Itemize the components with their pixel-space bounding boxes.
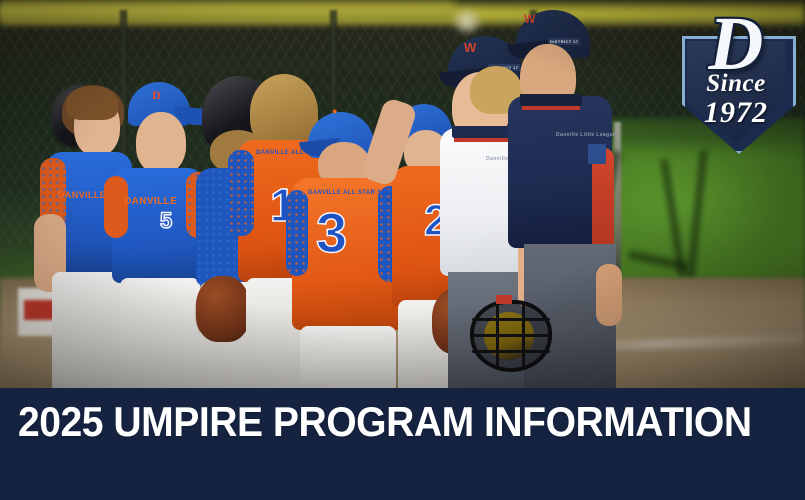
mask-bar <box>472 334 550 337</box>
head <box>136 112 186 174</box>
collar-red-stripe <box>522 106 580 110</box>
arm <box>596 264 622 326</box>
shirt-embroidery: Danville Little League <box>556 132 616 138</box>
hair-front <box>66 86 118 120</box>
mask-bar <box>472 350 550 353</box>
cap-logo: W <box>524 12 536 26</box>
mask-bar <box>496 304 499 368</box>
mask-bar <box>472 318 550 321</box>
banner-title-text: 2025 UMPIRE PROGRAM INFORMATION <box>18 398 752 446</box>
sleeve <box>228 150 254 236</box>
pants <box>120 278 200 392</box>
mask-brand-tag <box>496 295 512 304</box>
page-root: DANVILLE D DANVILLE 5 <box>0 0 805 500</box>
field-light-glow <box>452 8 482 34</box>
district-logo[interactable]: D Since 1972 <box>668 8 804 150</box>
baseball-glove <box>196 276 250 342</box>
cap-logo: W <box>464 40 477 55</box>
cap-logo: ● <box>332 106 338 116</box>
cap-logo: D <box>152 88 161 103</box>
pants <box>300 326 396 392</box>
sleeve-patch <box>588 144 606 164</box>
sleeve <box>286 190 308 276</box>
jersey-team-name: DANVILLE <box>124 196 177 207</box>
logo-year: 1972 <box>668 96 804 130</box>
jersey-number: 3 <box>316 200 346 265</box>
pants <box>52 272 130 390</box>
catchers-mask <box>470 300 552 372</box>
logo-since-label: Since <box>668 70 804 98</box>
sleeve <box>104 176 128 238</box>
collar-red-stripe <box>454 138 510 142</box>
jersey-team-name: DANVILLE <box>58 190 106 200</box>
jersey-number: 5 <box>160 208 171 234</box>
mask-bar <box>522 304 525 368</box>
